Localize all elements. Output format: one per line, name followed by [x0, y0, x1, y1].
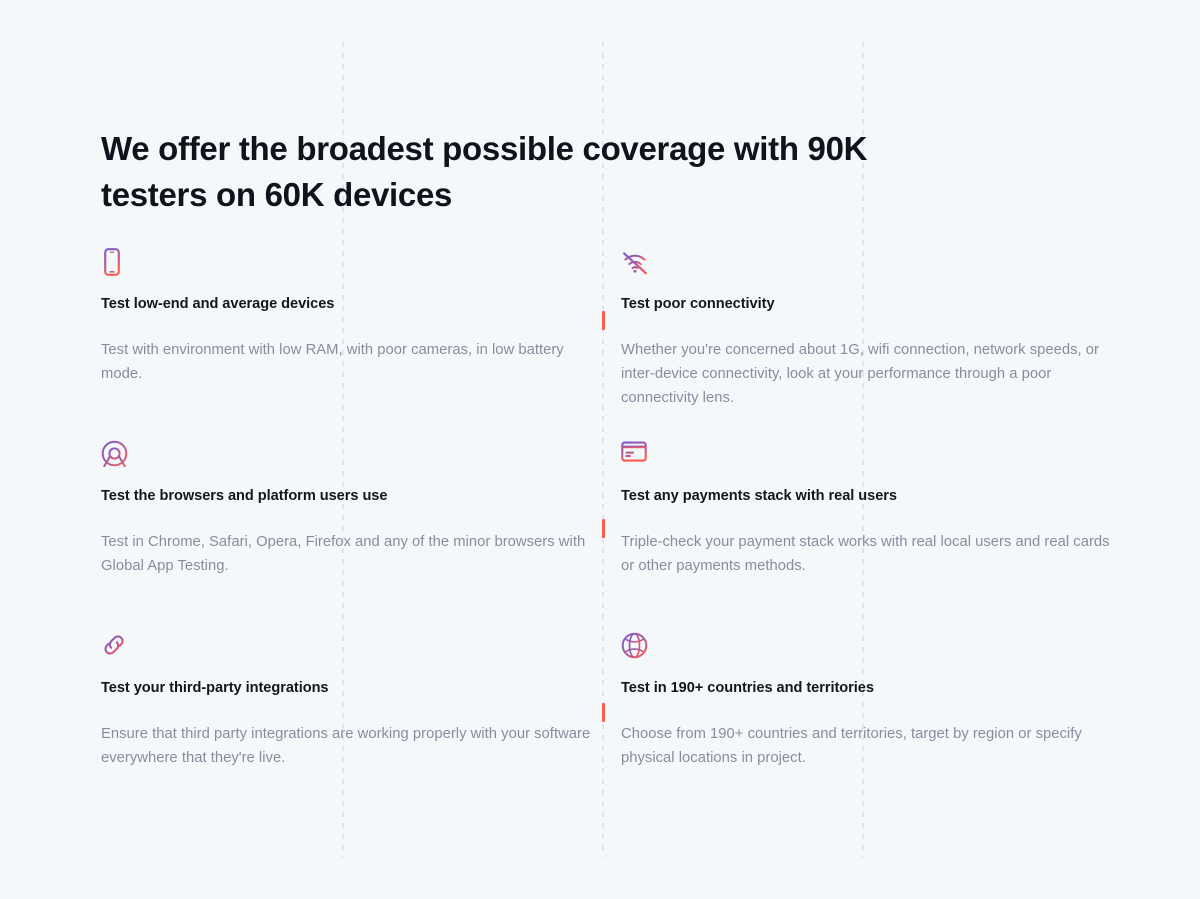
feature-card-title: Test any payments stack with real users: [621, 486, 1113, 506]
feature-row: Test low-end and average devices Test wi…: [0, 248, 1200, 440]
feature-card-body: Triple-check your payment stack works wi…: [621, 530, 1113, 578]
globe-icon: [621, 632, 1113, 664]
feature-card-title: Test poor connectivity: [621, 294, 1113, 314]
mobile-phone-icon: [101, 248, 593, 280]
feature-card-test-low-end-and-average-devices: Test low-end and average devices Test wi…: [101, 248, 593, 386]
wifi-off-icon: [621, 248, 1113, 280]
feature-card-test-poor-connectivity: Test poor connectivity Whether you're co…: [621, 248, 1113, 410]
feature-row: Test your third-party integrations Ensur…: [0, 632, 1200, 824]
feature-card-body: Ensure that third party integrations are…: [101, 722, 593, 770]
feature-grid: Test low-end and average devices Test wi…: [0, 248, 1200, 824]
feature-card-title: Test low-end and average devices: [101, 294, 593, 314]
feature-card-test-your-third-party-integrations: Test your third-party integrations Ensur…: [101, 632, 593, 770]
feature-card-body: Test with environment with low RAM, with…: [101, 338, 593, 386]
feature-card-body: Whether you're concerned about 1G, wifi …: [621, 338, 1113, 410]
feature-card-body: Choose from 190+ countries and territori…: [621, 722, 1113, 770]
feature-row: Test the browsers and platform users use…: [0, 440, 1200, 632]
chrome-browser-icon: [101, 440, 593, 472]
feature-card-test-the-browsers-and-platform-users-use: Test the browsers and platform users use…: [101, 440, 593, 578]
feature-card-test-any-payments-stack-with-real-users: Test any payments stack with real users …: [621, 440, 1113, 578]
link-chain-icon: [101, 632, 593, 664]
feature-card-title: Test the browsers and platform users use: [101, 486, 593, 506]
credit-card-icon: [621, 440, 1113, 472]
feature-card-test-in-190-countries-and-territories: Test in 190+ countries and territories C…: [621, 632, 1113, 770]
feature-card-body: Test in Chrome, Safari, Opera, Firefox a…: [101, 530, 593, 578]
page-title: We offer the broadest possible coverage …: [101, 126, 891, 218]
feature-card-title: Test your third-party integrations: [101, 678, 593, 698]
feature-card-title: Test in 190+ countries and territories: [621, 678, 1113, 698]
